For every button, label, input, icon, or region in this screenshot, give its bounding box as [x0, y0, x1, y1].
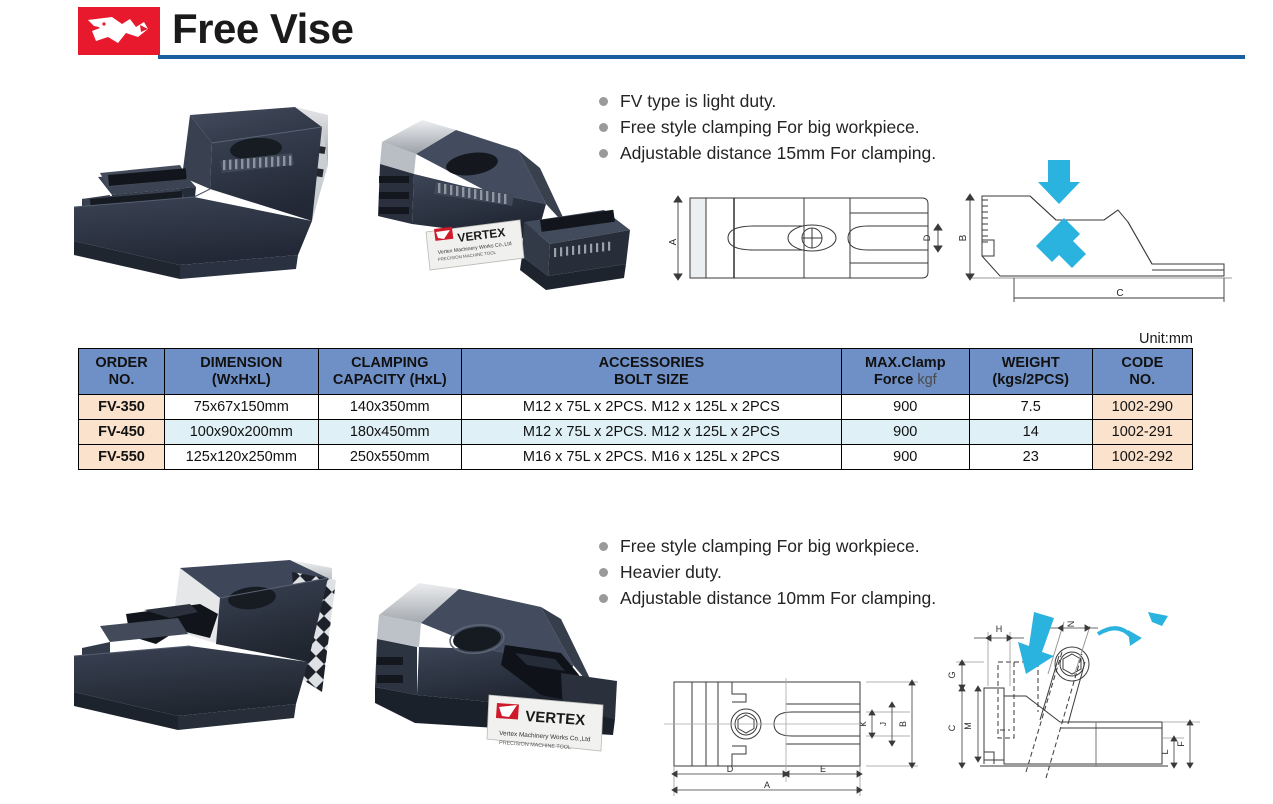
dimension-label-j: J	[879, 722, 888, 726]
cell-order-no: FV-550	[79, 445, 165, 470]
title-underline	[158, 55, 1245, 59]
table-row: FV-550 125x120x250mm 250x550mm M16 x 75L…	[79, 445, 1193, 470]
list-item: Adjustable distance 15mm For clamping.	[597, 140, 936, 166]
cell-weight: 7.5	[969, 395, 1092, 420]
dimension-label-k: K	[859, 721, 868, 727]
column-header-clamping-capacity: CLAMPING CAPACITY (HxL)	[318, 349, 461, 395]
vertex-eagle-logo-icon	[78, 7, 160, 55]
dimension-label-l: L	[1160, 749, 1170, 754]
dimension-label-g: G	[947, 671, 957, 678]
list-item: Heavier duty.	[597, 559, 936, 585]
technical-drawing-fvx-side-view: H N G C	[922, 612, 1212, 802]
cell-clamping-capacity: 250x550mm	[318, 445, 461, 470]
dimension-label-c: C	[947, 724, 957, 731]
dimension-label-d: D	[922, 234, 932, 241]
column-header-accessories: ACCESSORIES BOLT SIZE	[461, 349, 841, 395]
vertex-brand-plate: VERTEX Vertex Machinery Works Co.,Ltd PR…	[487, 695, 603, 751]
cell-max-clamp-force: 900	[841, 445, 969, 470]
cell-order-no: FV-350	[79, 395, 165, 420]
list-item: Free style clamping For big workpiece.	[597, 533, 936, 559]
cell-max-clamp-force: 900	[841, 395, 969, 420]
rotation-arrow-head	[1128, 630, 1142, 646]
feature-list-bottom: Free style clamping For big workpiece. H…	[597, 533, 936, 611]
table-header-row: ORDER NO. DIMENSION (WxHxL) CLAMPING CAP…	[79, 349, 1193, 395]
cell-code-no: 1002-290	[1092, 395, 1192, 420]
feature-list-top: FV type is light duty. Free style clampi…	[597, 88, 936, 166]
page-title: Free Vise	[172, 4, 354, 54]
cell-code-no: 1002-291	[1092, 420, 1192, 445]
product-photo-fv-isometric	[60, 103, 360, 303]
clamp-force-arrow-down-secondary	[1148, 612, 1168, 626]
dimension-label-m: M	[963, 722, 973, 730]
unit-note: Unit:mm	[1139, 331, 1193, 347]
cell-clamping-capacity: 180x450mm	[318, 420, 461, 445]
cell-accessories: M16 x 75L x 2PCS. M16 x 125L x 2PCS	[461, 445, 841, 470]
dimension-label-a: A	[668, 238, 679, 245]
dimension-label-h: H	[996, 624, 1003, 634]
specification-table: ORDER NO. DIMENSION (WxHxL) CLAMPING CAP…	[78, 348, 1193, 470]
column-header-order-no: ORDER NO.	[79, 349, 165, 395]
cell-max-clamp-force: 900	[841, 420, 969, 445]
dimension-label-n: N	[1066, 621, 1076, 628]
dimension-label-f: F	[1176, 741, 1186, 747]
cell-dimension: 125x120x250mm	[165, 445, 319, 470]
list-item: Adjustable distance 10mm For clamping.	[597, 585, 936, 611]
technical-drawing-fv-plan-view: A D	[662, 168, 947, 308]
clamp-force-arrow-down	[1038, 160, 1080, 204]
column-header-max-clamp-force: MAX.Clamp Force kgf	[841, 349, 969, 395]
table-row: FV-450 100x90x200mm 180x450mm M12 x 75L …	[79, 420, 1193, 445]
dimension-label-b: B	[898, 721, 908, 727]
cell-accessories: M12 x 75L x 2PCS. M12 x 125L x 2PCS	[461, 395, 841, 420]
technical-drawing-fvx-plan-view: K J B D E A	[660, 662, 925, 802]
cell-weight: 23	[969, 445, 1092, 470]
table-row: FV-350 75x67x150mm 140x350mm M12 x 75L x…	[79, 395, 1193, 420]
clamp-force-arrow-diagonal	[1036, 218, 1086, 268]
dimension-label-d: D	[727, 764, 734, 774]
product-photo-fvx-isometric	[60, 552, 360, 752]
dimension-label-e: E	[820, 764, 826, 774]
column-header-dimension: DIMENSION (WxHxL)	[165, 349, 319, 395]
cell-clamping-capacity: 140x350mm	[318, 395, 461, 420]
page-header: Free Vise	[0, 0, 1273, 68]
cell-dimension: 75x67x150mm	[165, 395, 319, 420]
dimension-label-b: B	[958, 234, 969, 241]
cell-dimension: 100x90x200mm	[165, 420, 319, 445]
column-header-weight: WEIGHT (kgs/2PCS)	[969, 349, 1092, 395]
cell-order-no: FV-450	[79, 420, 165, 445]
cell-code-no: 1002-292	[1092, 445, 1192, 470]
dimension-label-c: C	[1116, 288, 1123, 299]
list-item: Free style clamping For big workpiece.	[597, 114, 936, 140]
catalog-page: Free Vise	[0, 0, 1273, 804]
column-header-code-no: CODE NO.	[1092, 349, 1192, 395]
technical-drawing-fv-side-view: B C	[952, 160, 1242, 310]
clamp-force-arrow-down	[1018, 612, 1054, 674]
cell-accessories: M12 x 75L x 2PCS. M12 x 125L x 2PCS	[461, 420, 841, 445]
list-item: FV type is light duty.	[597, 88, 936, 114]
cell-weight: 14	[969, 420, 1092, 445]
dimension-label-a: A	[764, 780, 770, 790]
